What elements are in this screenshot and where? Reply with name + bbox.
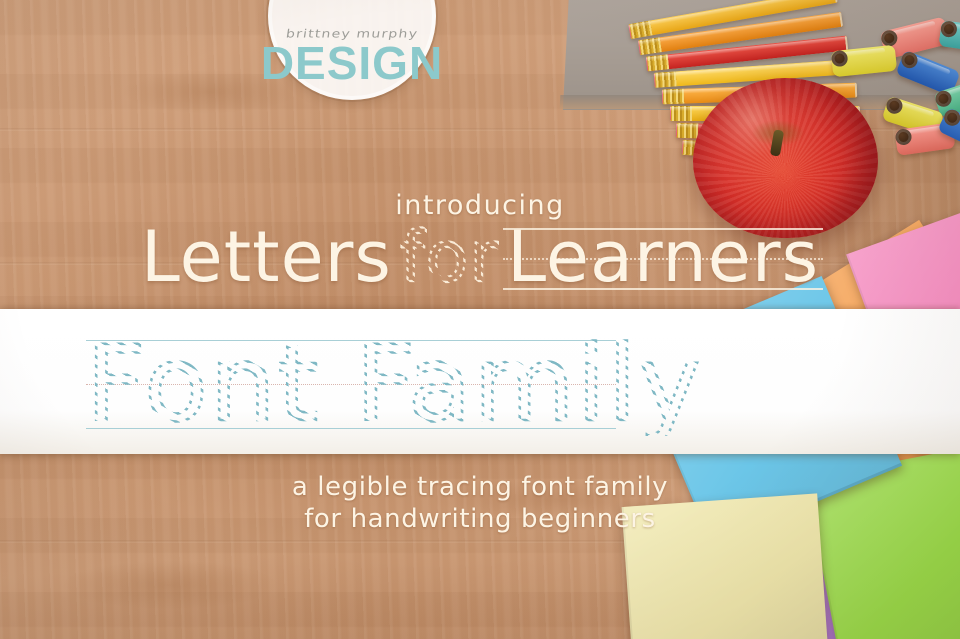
tagline-line-2: for handwriting beginners: [0, 504, 960, 536]
headline-word-for-traced: for: [400, 222, 499, 292]
headline-guide-base-line: [503, 288, 823, 290]
brand-script-text: brittney murphy: [285, 27, 419, 40]
promo-graphic-canvas: brittney murphy DESIGN introducing Lette…: [0, 0, 960, 639]
wood-grain-knot: [60, 560, 280, 610]
tracing-paper-band: Font Family: [0, 309, 960, 454]
brand-logo-badge[interactable]: brittney murphy DESIGN: [268, 0, 436, 100]
tagline-line-1: a legible tracing font family: [0, 472, 960, 504]
headline-word-letters: Letters: [141, 222, 392, 292]
headline-guide-mid-line: [503, 258, 823, 260]
tracing-sample-text: Font Family: [86, 332, 702, 436]
headline-guide-top-line: [503, 228, 823, 230]
headline-title: LettersforLearners: [0, 222, 960, 292]
tracing-guide-wrap: Font Family: [86, 340, 616, 428]
headline-word-learners: Learners: [507, 222, 819, 292]
brand-word-text: DESIGN: [261, 40, 443, 86]
tagline-block: a legible tracing font family for handwr…: [0, 472, 960, 535]
